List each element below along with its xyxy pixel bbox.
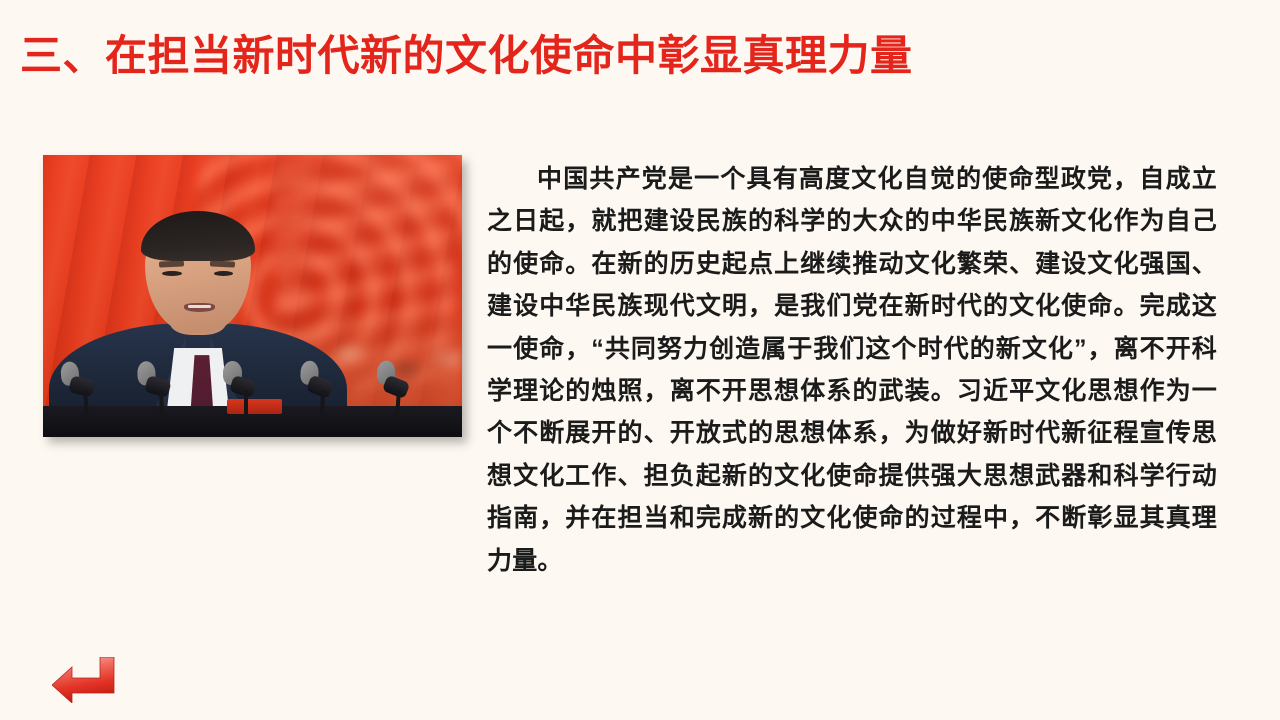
back-arrow-icon[interactable] [52, 657, 118, 703]
mouth [184, 303, 215, 311]
eye-right [214, 271, 234, 276]
speaker-at-podium-photo [43, 155, 462, 437]
microphone [223, 361, 255, 417]
eyebrow-right [210, 260, 235, 267]
microphone [60, 360, 96, 418]
eye-left [162, 271, 182, 276]
slide-canvas: 三、在担当新时代新的文化使命中彰显真理力量 [0, 0, 1280, 720]
microphone [137, 360, 171, 417]
body-paragraph: 中国共产党是一个具有高度文化自觉的使命型政党，自成立之日起，就把建设民族的科学的… [487, 158, 1217, 582]
microphone [299, 360, 333, 417]
hair [141, 211, 256, 261]
back-arrow-button[interactable] [52, 657, 118, 703]
microphone [374, 360, 410, 418]
photo-inner [43, 155, 462, 437]
page-title: 三、在担当新时代新的文化使命中彰显真理力量 [20, 30, 1220, 82]
